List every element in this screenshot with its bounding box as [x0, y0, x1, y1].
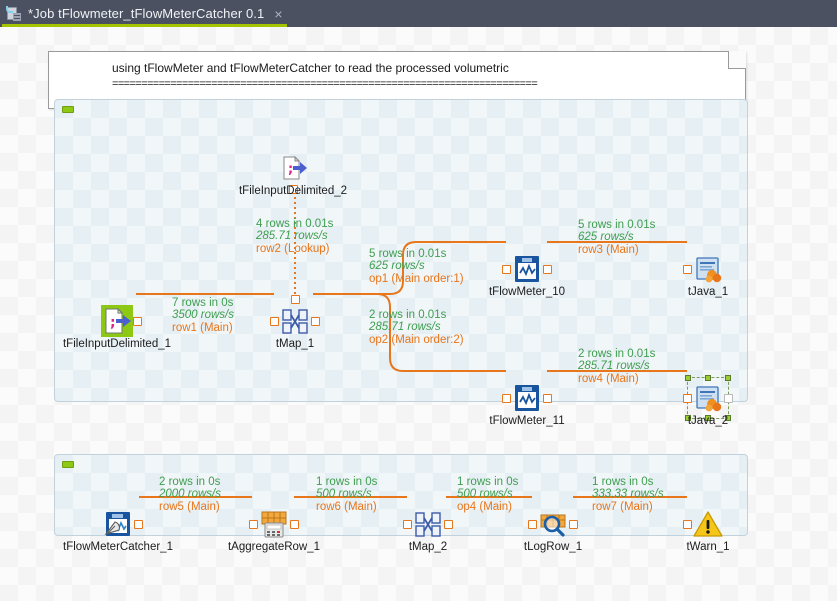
link-rows-row3: 5 rows in 0.01s [578, 219, 655, 231]
port-output[interactable] [724, 394, 733, 403]
tjava-icon [692, 382, 724, 414]
subjob-collapse-icon[interactable] [62, 106, 74, 113]
note-line-1: using tFlowMeter and tFlowMeterCatcher t… [112, 60, 745, 76]
link-rows-row4: 2 rows in 0.01s [578, 348, 655, 360]
link-rate-op4: 500 rows/s [457, 488, 518, 500]
link-rate-row3: 625 rows/s [578, 231, 655, 243]
port-output[interactable] [133, 317, 142, 326]
link-rate-row2: 285.71 rows/s [256, 230, 333, 242]
component-label: tWarn_1 [686, 541, 729, 553]
port-input[interactable] [502, 265, 511, 274]
component-label: tFileInputDelimited_1 [63, 338, 171, 350]
link-rate-row7: 333.33 rows/s [592, 488, 664, 500]
file-input-delimited-icon: ; [277, 152, 309, 184]
flowmeter-catcher-icon [102, 508, 134, 540]
port-input[interactable] [403, 520, 412, 529]
link-rows-row7: 1 rows in 0s [592, 476, 664, 488]
component-label: tMap_1 [276, 338, 314, 350]
port-output[interactable] [543, 394, 552, 403]
link-name-row2: row2 (Lookup) [256, 243, 333, 255]
link-stats-row7: 1 rows in 0s 333.33 rows/s row7 (Main) [592, 476, 664, 513]
component-label: tAggregateRow_1 [228, 541, 320, 553]
link-stats-row2: 4 rows in 0.01s 285.71 rows/s row2 (Look… [256, 218, 333, 255]
link-stats-op2: 2 rows in 0.01s 285.71 rows/s op2 (Main … [369, 309, 464, 346]
component-label: tFlowMeterCatcher_1 [63, 541, 173, 553]
link-stats-row6: 1 rows in 0s 500 rows/s row6 (Main) [316, 476, 377, 513]
note-line-2: ========================================… [112, 77, 697, 92]
link-name-row5: row5 (Main) [159, 501, 221, 513]
subjob-collapse-icon[interactable] [62, 461, 74, 468]
link-rows-op4: 1 rows in 0s [457, 476, 518, 488]
tjava-icon [692, 253, 724, 285]
link-stats-row5: 2 rows in 0s 2000 rows/s row5 (Main) [159, 476, 221, 513]
link-rate-row1: 3500 rows/s [172, 309, 234, 321]
component-label: tFlowMeter_10 [489, 286, 565, 298]
link-name-row4: row4 (Main) [578, 373, 655, 385]
job-icon [6, 6, 22, 22]
component-label: tFlowMeter_11 [489, 415, 564, 427]
link-stats-row1: 7 rows in 0s 3500 rows/s row1 (Main) [172, 297, 234, 334]
job-design-canvas[interactable]: using tFlowMeter and tFlowMeterCatcher t… [0, 27, 837, 601]
svg-text:;: ; [288, 162, 293, 177]
logrow-icon [537, 508, 569, 540]
link-name-op2: op2 (Main order:2) [369, 334, 464, 346]
port-input[interactable] [528, 520, 537, 529]
tmap-icon [412, 508, 444, 540]
job-tab-title: *Job tFlowmeter_tFlowMeterCatcher 0.1 [28, 6, 264, 21]
link-name-row3: row3 (Main) [578, 244, 655, 256]
link-rate-row5: 2000 rows/s [159, 488, 221, 500]
port-output[interactable] [543, 265, 552, 274]
port-output[interactable] [569, 520, 578, 529]
component-label: tFileInputDelimited_2 [239, 185, 347, 197]
component-label: tMap_2 [409, 541, 447, 553]
port-output[interactable] [290, 520, 299, 529]
aggregate-row-icon [258, 508, 290, 540]
link-rate-row4: 285.71 rows/s [578, 360, 655, 372]
link-rows-op2: 2 rows in 0.01s [369, 309, 464, 321]
port-output[interactable] [311, 317, 320, 326]
port-input[interactable] [683, 394, 692, 403]
link-rate-op1: 625 rows/s [369, 260, 464, 272]
link-stats-row4: 2 rows in 0.01s 285.71 rows/s row4 (Main… [578, 348, 655, 385]
link-rows-row6: 1 rows in 0s [316, 476, 377, 488]
component-label: tJava_1 [688, 286, 728, 298]
link-name-row6: row6 (Main) [316, 501, 377, 513]
link-name-op1: op1 (Main order:1) [369, 273, 464, 285]
port-lookup[interactable] [291, 295, 300, 304]
port-input[interactable] [249, 520, 258, 529]
file-input-delimited-icon: ; [101, 305, 133, 337]
link-stats-op1: 5 rows in 0.01s 625 rows/s op1 (Main ord… [369, 248, 464, 285]
link-stats-row3: 5 rows in 0.01s 625 rows/s row3 (Main) [578, 219, 655, 256]
warn-icon [692, 508, 724, 540]
port-input[interactable] [270, 317, 279, 326]
link-rows-op1: 5 rows in 0.01s [369, 248, 464, 260]
flowmeter-icon [511, 253, 543, 285]
tmap-icon [279, 305, 311, 337]
port-input[interactable] [683, 265, 692, 274]
link-rate-op2: 285.71 rows/s [369, 321, 464, 333]
link-name-row7: row7 (Main) [592, 501, 664, 513]
component-label: tLogRow_1 [524, 541, 582, 553]
port-output[interactable] [444, 520, 453, 529]
flowmeter-icon [511, 382, 543, 414]
link-rows-row2: 4 rows in 0.01s [256, 218, 333, 230]
close-icon[interactable]: × [274, 7, 282, 21]
link-rows-row5: 2 rows in 0s [159, 476, 221, 488]
port-output[interactable] [134, 520, 143, 529]
job-tab-active[interactable]: *Job tFlowmeter_tFlowMeterCatcher 0.1 × [0, 0, 291, 27]
link-name-op4: op4 (Main) [457, 501, 518, 513]
svg-text:;: ; [110, 315, 116, 331]
editor-tab-bar: *Job tFlowmeter_tFlowMeterCatcher 0.1 × [0, 0, 837, 27]
link-stats-op4: 1 rows in 0s 500 rows/s op4 (Main) [457, 476, 518, 513]
link-name-row1: row1 (Main) [172, 322, 234, 334]
link-rate-row6: 500 rows/s [316, 488, 377, 500]
port-input[interactable] [502, 394, 511, 403]
port-input[interactable] [683, 520, 692, 529]
link-rows-row1: 7 rows in 0s [172, 297, 234, 309]
component-label: tJava_2 [688, 415, 728, 427]
